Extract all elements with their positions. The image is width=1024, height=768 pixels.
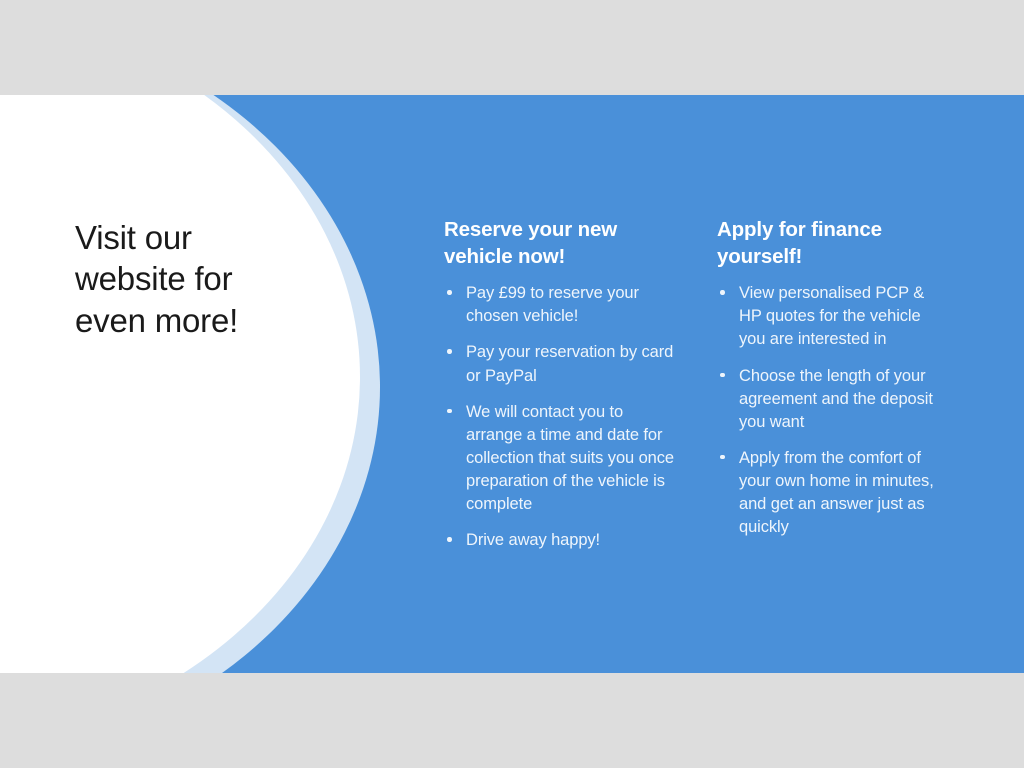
left-headline: Visit our website for even more! — [75, 217, 335, 341]
column-reserve-vehicle: Reserve your new vehicle now! Pay £99 to… — [444, 217, 674, 552]
list-item-text: Drive away happy! — [466, 531, 600, 549]
list-item-text: Pay your reservation by card or PayPal — [466, 343, 673, 384]
bullet-dot-icon — [447, 409, 452, 414]
list-item: Choose the length of your agreement and … — [717, 365, 947, 434]
list-item: View personalised PCP & HP quotes for th… — [717, 282, 947, 351]
list-item: Pay £99 to reserve your chosen vehicle! — [444, 282, 674, 328]
bullet-dot-icon — [447, 290, 452, 295]
decorative-circle-shape — [0, 95, 360, 673]
slide-root: Visit our website for even more! Reserve… — [0, 0, 1024, 768]
list-item-text: Pay £99 to reserve your chosen vehicle! — [466, 284, 639, 325]
list-item: We will contact you to arrange a time an… — [444, 401, 674, 516]
bullet-list-finance: View personalised PCP & HP quotes for th… — [717, 282, 947, 539]
bullet-dot-icon — [447, 349, 452, 354]
list-item-text: View personalised PCP & HP quotes for th… — [739, 284, 924, 348]
list-item-text: Apply from the comfort of your own home … — [739, 449, 934, 536]
list-item: Pay your reservation by card or PayPal — [444, 341, 674, 387]
bullet-dot-icon — [720, 455, 725, 460]
column-heading-reserve: Reserve your new vehicle now! — [444, 217, 674, 270]
bullet-dot-icon — [720, 373, 725, 378]
column-heading-finance: Apply for finance yourself! — [717, 217, 947, 270]
bullet-list-reserve: Pay £99 to reserve your chosen vehicle! … — [444, 282, 674, 552]
bullet-dot-icon — [447, 537, 452, 542]
content-columns: Reserve your new vehicle now! Pay £99 to… — [444, 217, 974, 552]
slide-canvas: Visit our website for even more! Reserve… — [0, 95, 1024, 673]
list-item-text: We will contact you to arrange a time an… — [466, 403, 674, 513]
column-apply-finance: Apply for finance yourself! View persona… — [717, 217, 947, 539]
list-item: Apply from the comfort of your own home … — [717, 447, 947, 539]
list-item: Drive away happy! — [444, 529, 674, 552]
bullet-dot-icon — [720, 290, 725, 295]
list-item-text: Choose the length of your agreement and … — [739, 367, 933, 431]
decorative-arc-shape — [0, 95, 380, 673]
